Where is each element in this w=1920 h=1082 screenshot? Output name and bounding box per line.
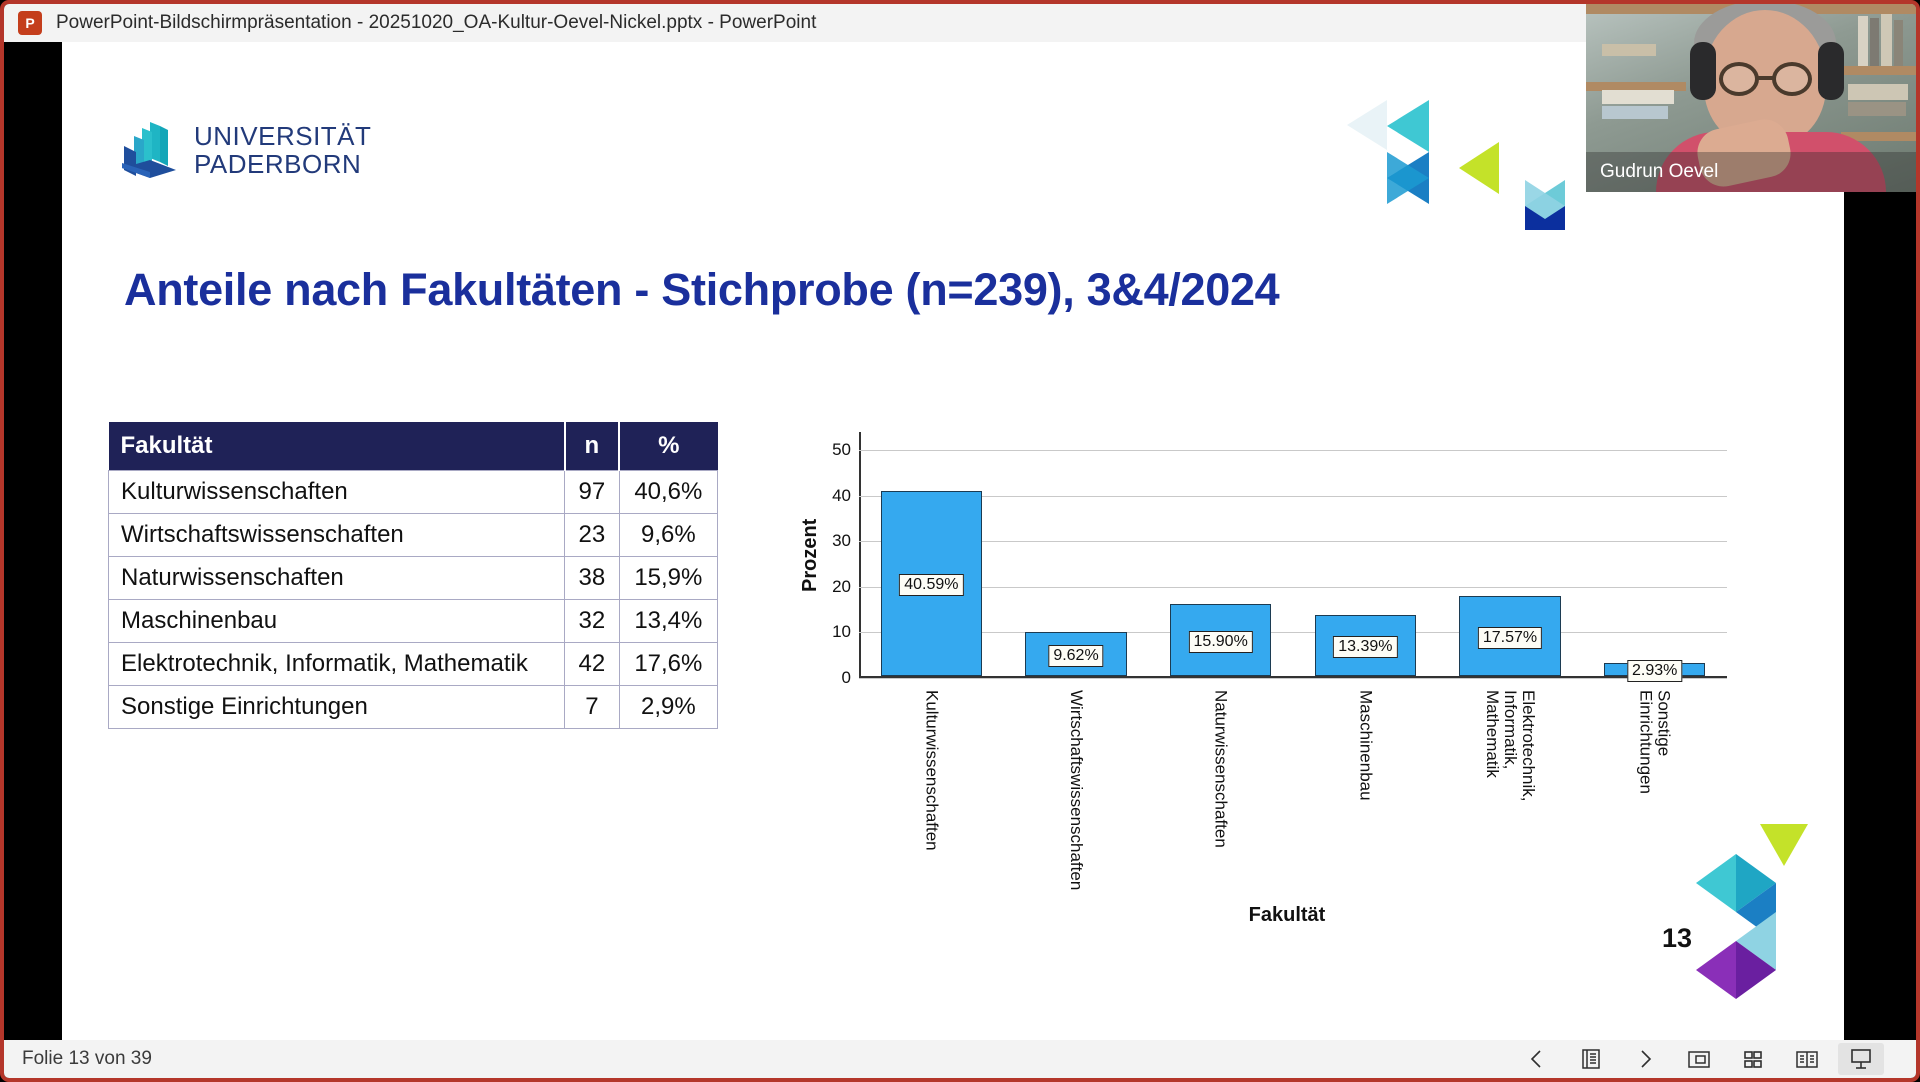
slide-sorter-button[interactable] [1730, 1043, 1776, 1075]
chart-category-label: Wirtschaftswissenschaften [1067, 690, 1085, 890]
faculty-table: Fakultät n % Kulturwissenschaften9740,6%… [108, 422, 718, 729]
slide-menu-button[interactable] [1568, 1043, 1614, 1075]
chart-y-tick-label: 20 [832, 577, 851, 597]
faculty-bar-chart[interactable]: Prozent 0102030405040.59%Kulturwissensch… [807, 442, 1767, 1002]
table-header-row: Fakultät n % [109, 422, 718, 471]
chart-x-axis-title: Fakultät [807, 904, 1767, 927]
chart-y-tick-label: 10 [832, 622, 851, 642]
table-header-faculty: Fakultät [109, 422, 565, 471]
powerpoint-slideshow-window: P PowerPoint-Bildschirmpräsentation - 20… [0, 0, 1920, 1082]
table-row: Elektrotechnik, Informatik, Mathematik42… [109, 643, 718, 686]
cell-n: 32 [565, 600, 620, 643]
cell-faculty: Elektrotechnik, Informatik, Mathematik [109, 643, 565, 686]
cell-faculty: Naturwissenschaften [109, 557, 565, 600]
page-title: Anteile nach Fakultäten - Stichprobe (n=… [124, 264, 1474, 316]
chart-y-axis-line [859, 432, 861, 678]
chart-gridline [859, 678, 1727, 679]
chart-y-tick-label: 50 [832, 440, 851, 460]
university-logo-text: UNIVERSITÄT PADERBORN [194, 122, 371, 178]
chart-plot-area: 0102030405040.59%Kulturwissenschaften9.6… [859, 450, 1727, 678]
letterbox-right [1836, 42, 1916, 1048]
webcam-overlay[interactable]: Gudrun Oevel [1586, 4, 1916, 192]
table-header-percent: % [619, 422, 717, 471]
next-slide-button[interactable] [1622, 1043, 1668, 1075]
slideshow-controls [1514, 1043, 1920, 1075]
cell-percent: 17,6% [619, 643, 717, 686]
table-row: Wirtschaftswissenschaften239,6% [109, 514, 718, 557]
chart-data-label: 2.93% [1627, 660, 1682, 682]
chart-data-label: 13.39% [1333, 636, 1397, 658]
chart-gridline [859, 496, 1727, 497]
powerpoint-app-icon: P [18, 11, 42, 35]
cell-faculty: Wirtschaftswissenschaften [109, 514, 565, 557]
chart-gridline [859, 450, 1727, 451]
chart-data-label: 17.57% [1478, 627, 1542, 649]
chart-y-tick-label: 40 [832, 486, 851, 506]
previous-slide-button[interactable] [1514, 1043, 1560, 1075]
university-logo: UNIVERSITÄT PADERBORN [120, 120, 371, 180]
cell-faculty: Maschinenbau [109, 600, 565, 643]
cell-percent: 40,6% [619, 471, 717, 514]
slide-canvas[interactable]: UNIVERSITÄT PADERBORN Anteile nach Fakul… [62, 42, 1844, 1048]
window-title: PowerPoint-Bildschirmpräsentation - 2025… [56, 12, 816, 34]
glasses-bridge [1758, 76, 1774, 80]
glasses-left-lens [1719, 62, 1759, 96]
cell-faculty: Sonstige Einrichtungen [109, 686, 565, 729]
participant-name-label: Gudrun Oevel [1586, 152, 1916, 192]
table-row: Maschinenbau3213,4% [109, 600, 718, 643]
slideshow-button[interactable] [1838, 1043, 1884, 1075]
decorative-triangles-bottom [1678, 820, 1828, 1020]
letterbox-left [4, 42, 62, 1048]
table-row: Kulturwissenschaften9740,6% [109, 471, 718, 514]
headphone-right-icon [1818, 42, 1844, 100]
cell-n: 97 [565, 471, 620, 514]
status-bar: Folie 13 von 39 [4, 1040, 1920, 1078]
cell-n: 38 [565, 557, 620, 600]
slide-counter-label: Folie 13 von 39 [22, 1048, 152, 1070]
glasses-right-lens [1772, 62, 1812, 96]
table-row: Naturwissenschaften3815,9% [109, 557, 718, 600]
cell-faculty: Kulturwissenschaften [109, 471, 565, 514]
chart-data-label: 9.62% [1048, 645, 1103, 667]
cell-percent: 2,9% [619, 686, 717, 729]
chart-category-label: Maschinenbau [1356, 690, 1374, 801]
decorative-triangles-top [1317, 90, 1577, 230]
cell-percent: 9,6% [619, 514, 717, 557]
chart-gridline [859, 632, 1727, 633]
paderborn-book-icon [120, 120, 178, 180]
chart-category-label: Naturwissenschaften [1212, 690, 1230, 848]
table-header-n: n [565, 422, 620, 471]
chart-data-label: 15.90% [1189, 631, 1253, 653]
cell-percent: 13,4% [619, 600, 717, 643]
cell-n: 42 [565, 643, 620, 686]
chart-y-tick-label: 0 [842, 668, 851, 688]
table-row: Sonstige Einrichtungen72,9% [109, 686, 718, 729]
chart-y-tick-label: 30 [832, 531, 851, 551]
chart-data-label: 40.59% [899, 574, 963, 596]
chart-category-label: Sonstige Einrichtungen [1637, 690, 1673, 794]
cell-percent: 15,9% [619, 557, 717, 600]
notes-view-button[interactable] [1784, 1043, 1830, 1075]
cell-n: 23 [565, 514, 620, 557]
chart-category-label: Kulturwissenschaften [922, 690, 940, 851]
chart-gridline [859, 587, 1727, 588]
chart-gridline [859, 541, 1727, 542]
reading-view-button[interactable] [1676, 1043, 1722, 1075]
chart-y-axis-title: Prozent [799, 519, 822, 592]
headphone-left-icon [1690, 42, 1716, 100]
faculty-table-wrapper: Fakultät n % Kulturwissenschaften9740,6%… [108, 422, 718, 729]
chart-category-label: Elektrotechnik, Informatik, Mathematik [1483, 690, 1537, 802]
cell-n: 7 [565, 686, 620, 729]
